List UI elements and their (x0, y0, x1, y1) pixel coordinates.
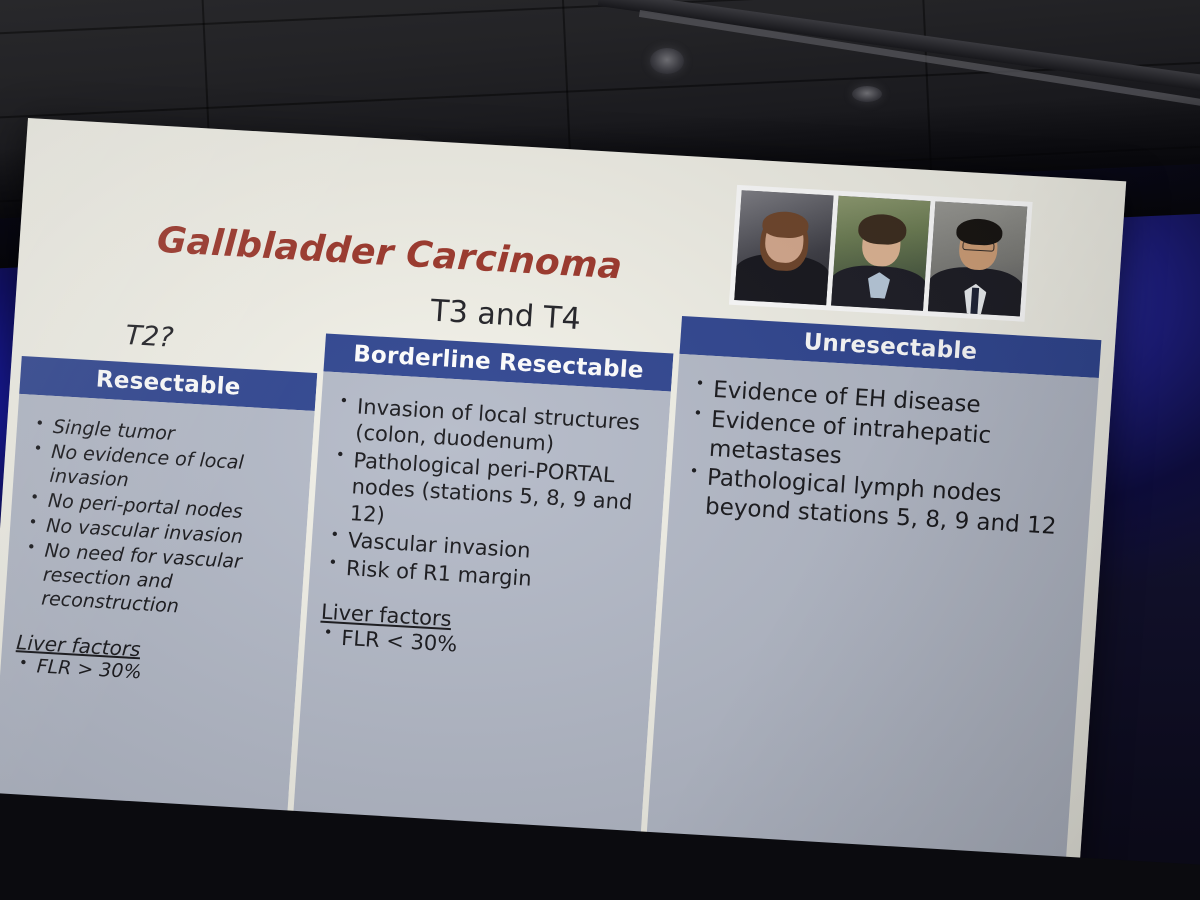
headshot-photo (928, 201, 1027, 316)
bullet-list-borderline-resectable: Invasion of local structures (colon, duo… (323, 392, 655, 598)
column-body-unresectable: Evidence of EH disease Evidence of intra… (645, 354, 1098, 879)
conference-room-photo: Gallbladder Carcinoma T3 and T4 T2? (0, 0, 1200, 900)
bullet-list-unresectable: Evidence of EH disease Evidence of intra… (682, 375, 1083, 543)
headshot-photo (734, 190, 833, 305)
glasses-icon (962, 241, 995, 252)
column-unresectable: Unresectable Evidence of EH disease Evid… (645, 316, 1101, 879)
column-body-borderline-resectable: Invasion of local structures (colon, duo… (292, 371, 671, 852)
projection-screen: Gallbladder Carcinoma T3 and T4 T2? (0, 118, 1126, 900)
column-body-resectable: Single tumor No evidence of local invasi… (0, 394, 315, 830)
ceiling-downlight (852, 86, 882, 102)
t2-stage-label: T2? (124, 320, 174, 354)
column-resectable: Resectable Single tumor No evidence of l… (0, 356, 317, 830)
slide-title: Gallbladder Carcinoma (19, 212, 761, 296)
speaker-photos (729, 185, 1033, 322)
bullet-list-resectable: Single tumor No evidence of local invasi… (19, 415, 300, 625)
slide: Gallbladder Carcinoma T3 and T4 T2? (0, 118, 1126, 900)
ceiling-downlight (650, 48, 684, 74)
headshot-photo (831, 196, 930, 311)
list-item: No need for vascular resection and recon… (19, 538, 291, 625)
column-borderline-resectable: Borderline Resectable Invasion of local … (292, 334, 673, 853)
